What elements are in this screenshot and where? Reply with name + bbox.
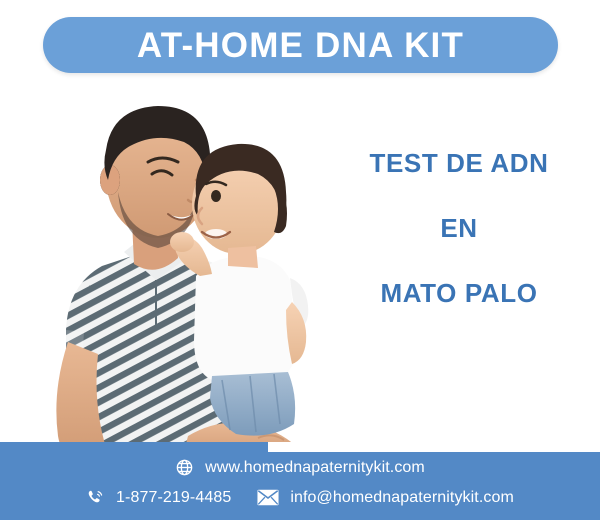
promo-banner-canvas: AT-HOME DNA KIT xyxy=(0,0,600,520)
kid-hand xyxy=(170,232,194,252)
header-banner: AT-HOME DNA KIT xyxy=(43,17,558,73)
footer-row-website: www.homednapaternitykit.com xyxy=(0,458,600,477)
email-text: info@homednapaternitykit.com xyxy=(290,489,514,507)
envelope-icon xyxy=(257,489,279,506)
website-text: www.homednapaternitykit.com xyxy=(205,459,425,477)
promo-line-3: MATO PALO xyxy=(336,280,582,306)
phone-contact[interactable]: 1-877-219-4485 xyxy=(86,488,231,507)
promo-line-2: EN xyxy=(336,215,582,241)
globe-icon xyxy=(175,458,194,477)
phone-icon xyxy=(86,488,105,507)
website-contact[interactable]: www.homednapaternitykit.com xyxy=(175,458,425,477)
email-contact[interactable]: info@homednapaternitykit.com xyxy=(257,489,514,507)
footer-bar xyxy=(0,442,600,520)
footer-row-phone-email: 1-877-219-4485 info@homednapaternitykit.… xyxy=(0,488,600,507)
page-title: AT-HOME DNA KIT xyxy=(137,28,464,63)
footer-notch xyxy=(268,442,600,452)
family-photo xyxy=(6,80,336,460)
family-photo-illustration xyxy=(6,80,336,460)
kid-shirt xyxy=(194,256,296,380)
promo-line-1: TEST DE ADN xyxy=(336,150,582,176)
promo-text-block: TEST DE ADN EN MATO PALO xyxy=(336,150,582,306)
phone-text: 1-877-219-4485 xyxy=(116,489,231,507)
kid-eye xyxy=(211,190,221,202)
